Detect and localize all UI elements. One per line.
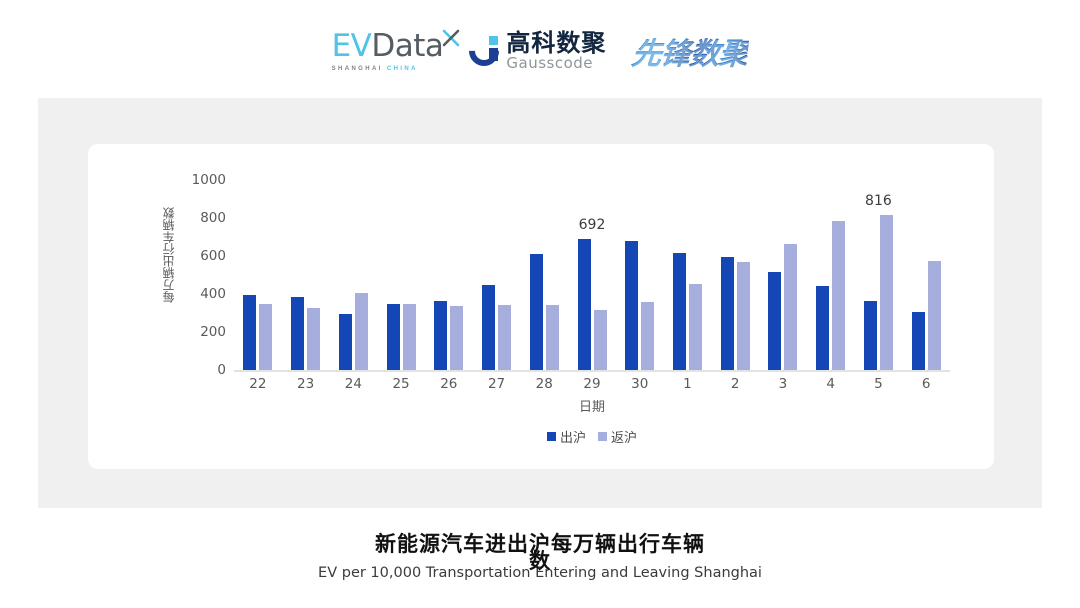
y-axis-ticks: 10008006004002000 [182,144,226,469]
evdata-word-data: Data [371,28,443,64]
y-axis-label: 每万辆出行车辆数 [160,180,178,330]
bar-value-label: 692 [568,217,616,233]
y-tick-800: 800 [182,210,226,226]
bar-group [711,180,759,370]
bar-group [616,180,664,370]
bar-返沪-25[interactable] [403,304,416,370]
page-title: 新能源汽车进出沪每万辆出行车辆 [0,528,1080,558]
x-tick-28: 28 [520,376,568,392]
y-tick-200: 200 [182,324,226,340]
x-tick-27: 27 [473,376,521,392]
evdata-tagline-country: CHINA [387,66,418,72]
bar-出沪-25[interactable] [387,304,400,371]
y-tick-1000: 1000 [182,172,226,188]
bar-出沪-22[interactable] [243,295,256,370]
y-tick-400: 400 [182,286,226,302]
bar-返沪-2[interactable] [737,262,750,370]
legend-item-返沪[interactable]: 返沪 [598,427,637,446]
bar-出沪-6[interactable] [912,312,925,370]
bar-group [473,180,521,370]
bar-group [807,180,855,370]
bar-出沪-26[interactable] [434,301,447,370]
bar-group [664,180,712,370]
evdata-tagline-city: SHANGHAI [332,66,383,72]
bar-返沪-24[interactable] [355,293,368,370]
bar-出沪-28[interactable] [530,254,543,370]
logo-bar: EVData SHANGHAI CHINA 高科数聚 Gausscode 先锋数… [0,22,1080,80]
bar-group [759,180,807,370]
y-tick-600: 600 [182,248,226,264]
gausscode-logo-cn: 高科数聚 [506,31,606,55]
bar-返沪-3[interactable] [784,244,797,370]
legend-label: 出沪 [560,427,586,446]
bar-返沪-28[interactable] [546,305,559,370]
x-tick-3: 3 [759,376,807,392]
bar-出沪-29[interactable] [578,239,591,370]
bar-出沪-4[interactable] [816,286,829,370]
chart-card: 每万辆出行车辆数 10008006004002000 692816 222324… [88,144,994,469]
x-axis-baseline [234,370,950,372]
bar-group [425,180,473,370]
evdata-wordmark: EVData [332,31,444,62]
x-axis-label: 日期 [234,396,950,415]
x-tick-26: 26 [425,376,473,392]
legend-label: 返沪 [611,427,637,446]
legend-item-出沪[interactable]: 出沪 [547,427,586,446]
bar-group [234,180,282,370]
x-tick-24: 24 [329,376,377,392]
bar-返沪-30[interactable] [641,302,654,370]
bar-chart: 每万辆出行车辆数 10008006004002000 692816 222324… [88,144,994,469]
x-tick-25: 25 [377,376,425,392]
bar-groups: 692816 [234,180,950,370]
bar-value-label: 816 [855,193,903,209]
bar-出沪-3[interactable] [768,272,781,370]
bar-出沪-23[interactable] [291,297,304,370]
bar-返沪-23[interactable] [307,308,320,370]
footer: 新能源汽车进出沪每万辆出行车辆 数 EV per 10,000 Transpor… [0,528,1080,581]
bar-出沪-5[interactable] [864,301,877,370]
evdata-tagline: SHANGHAI CHINA [332,66,418,72]
bar-group: 816 [855,180,903,370]
g-circle-icon [469,36,499,66]
bar-出沪-27[interactable] [482,285,495,371]
x-tick-6: 6 [902,376,950,392]
legend-swatch-icon [598,432,607,441]
chart-legend: 出沪返沪 [234,427,950,446]
bar-出沪-1[interactable] [673,253,686,370]
gausscode-logo-en: Gausscode [506,56,606,71]
bar-返沪-26[interactable] [450,306,463,370]
bar-出沪-24[interactable] [339,314,352,370]
bar-group: 692 [568,180,616,370]
bar-返沪-27[interactable] [498,305,511,370]
bar-出沪-30[interactable] [625,241,638,370]
x-axis-ticks: 222324252627282930123456 [234,376,950,392]
bar-返沪-1[interactable] [689,284,702,370]
bar-group [377,180,425,370]
x-tick-2: 2 [711,376,759,392]
bar-返沪-22[interactable] [259,304,272,370]
y-tick-0: 0 [182,362,226,378]
x-tick-30: 30 [616,376,664,392]
xianfeng-logo: 先锋数聚 [630,29,751,73]
x-tick-5: 5 [855,376,903,392]
x-tick-1: 1 [664,376,712,392]
bar-group [902,180,950,370]
page-subtitle: EV per 10,000 Transportation Entering an… [0,565,1080,581]
legend-swatch-icon [547,432,556,441]
bar-group [282,180,330,370]
x-tick-4: 4 [807,376,855,392]
bar-返沪-5[interactable] [880,215,893,370]
bar-出沪-2[interactable] [721,257,734,370]
x-tick-29: 29 [568,376,616,392]
bar-返沪-6[interactable] [928,261,941,370]
evdata-logo: EVData SHANGHAI CHINA [332,31,444,72]
x-tick-22: 22 [234,376,282,392]
x-tick-23: 23 [282,376,330,392]
evdata-word-ev: EV [332,28,372,64]
bar-group [329,180,377,370]
x-icon [442,22,460,40]
bar-group [520,180,568,370]
bar-返沪-4[interactable] [832,221,845,370]
bar-返沪-29[interactable] [594,310,607,370]
gausscode-logo: 高科数聚 Gausscode [469,31,606,71]
